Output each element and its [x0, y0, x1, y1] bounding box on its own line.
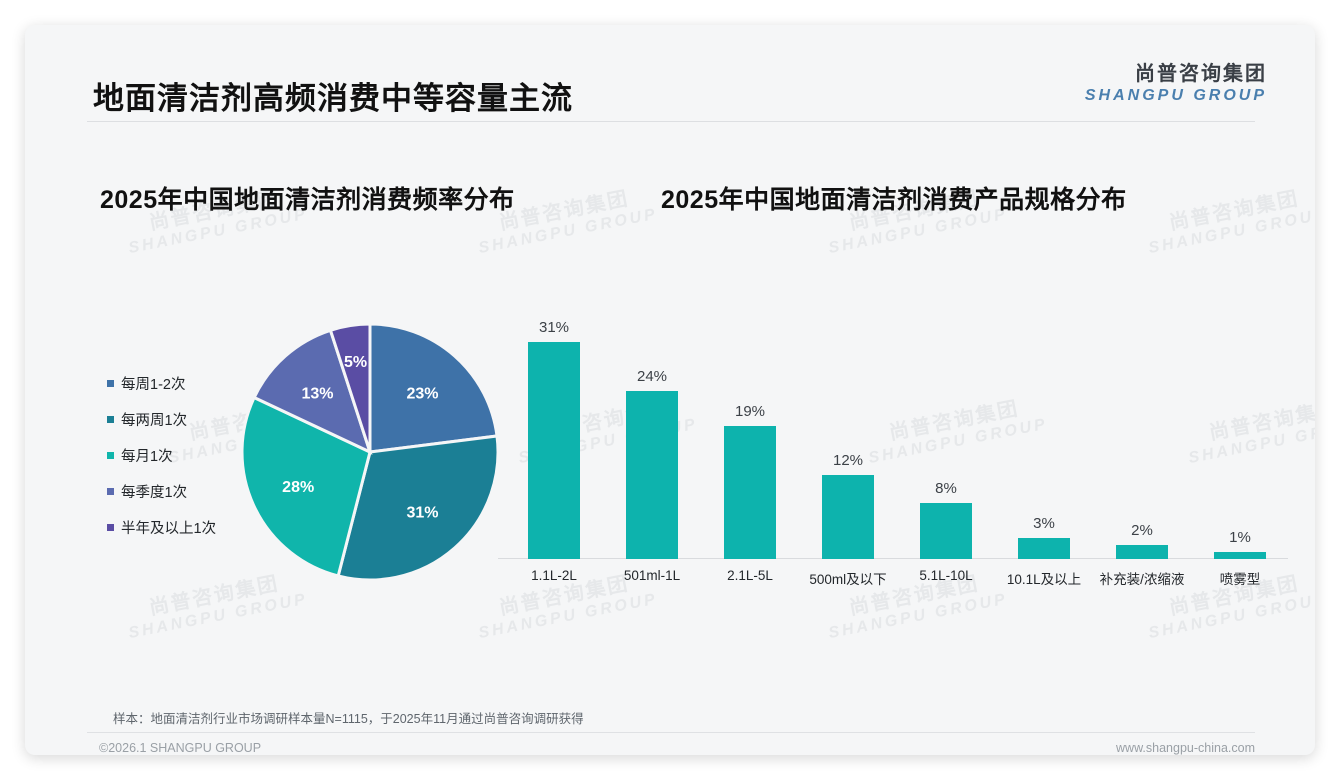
bar-category-label: 1.1L-2L	[531, 568, 577, 583]
watermark-text: 尚普咨询集团SHANGPU GROUP	[1143, 183, 1315, 258]
pie-slice-value: 31%	[406, 505, 438, 522]
bar-column[interactable]: 2%补充装/浓缩液	[1096, 545, 1188, 559]
bar-category-label: 喷雾型	[1220, 568, 1261, 588]
bar-value-label: 1%	[1194, 529, 1286, 546]
slide-card: 尚普咨询集团SHANGPU GROUP尚普咨询集团SHANGPU GROUP尚普…	[25, 25, 1315, 755]
left-chart-title: 2025年中国地面清洁剂消费频率分布	[100, 180, 515, 216]
website-url[interactable]: www.shangpu-china.com	[1116, 741, 1255, 755]
right-chart-title: 2025年中国地面清洁剂消费产品规格分布	[661, 180, 1127, 216]
bar-column[interactable]: 3%10.1L及以上	[998, 538, 1090, 559]
pie-legend: 每周1-2次每两周1次每月1次每季度1次半年及以上1次	[107, 365, 247, 545]
bar-category-label: 500ml及以下	[809, 568, 886, 588]
bar-chart-panel: 31%1.1L-2L24%501ml-1L19%2.1L-5L12%500ml及…	[490, 255, 1290, 595]
bar-value-label: 19%	[704, 403, 796, 420]
bar-value-label: 3%	[998, 515, 1090, 532]
pie-slice-value: 28%	[282, 479, 314, 496]
bar-column[interactable]: 12%500ml及以下	[802, 475, 894, 559]
bar-category-label: 补充装/浓缩液	[1100, 568, 1185, 588]
pie-legend-item[interactable]: 每两周1次	[107, 401, 247, 437]
logo-english-text: SHANGPU GROUP	[1085, 86, 1267, 106]
pie-slice-value: 13%	[302, 385, 334, 402]
bar-category-label: 2.1L-5L	[727, 568, 773, 583]
legend-swatch-icon	[107, 452, 114, 459]
legend-swatch-icon	[107, 524, 114, 531]
bar-column[interactable]: 31%1.1L-2L	[508, 342, 600, 559]
bar-rect[interactable]	[1018, 538, 1070, 559]
pie-legend-label: 每周1-2次	[121, 373, 185, 394]
header-divider	[87, 121, 1255, 122]
bar-column[interactable]: 24%501ml-1L	[606, 391, 698, 559]
pie-legend-item[interactable]: 每月1次	[107, 437, 247, 473]
pie-legend-item[interactable]: 每季度1次	[107, 473, 247, 509]
bar-column[interactable]: 1%喷雾型	[1194, 552, 1286, 559]
bar-category-label: 10.1L及以上	[1007, 568, 1081, 588]
bar-rect[interactable]	[920, 503, 972, 559]
pie-legend-label: 半年及以上1次	[121, 517, 216, 538]
pie-legend-label: 每季度1次	[121, 481, 187, 502]
logo-chinese-text: 尚普咨询集团	[1085, 62, 1267, 86]
pie-legend-item[interactable]: 每周1-2次	[107, 365, 247, 401]
bar-value-label: 31%	[508, 319, 600, 336]
pie-legend-label: 每月1次	[121, 445, 173, 466]
footer-divider	[87, 732, 1255, 733]
pie-chart: 23%31%28%13%5%	[230, 307, 510, 597]
bar-column[interactable]: 19%2.1L-5L	[704, 426, 796, 559]
pie-legend-label: 每两周1次	[121, 409, 187, 430]
bar-rect[interactable]	[822, 475, 874, 559]
copyright-text: ©2026.1 SHANGPU GROUP	[99, 741, 261, 755]
legend-swatch-icon	[107, 380, 114, 387]
bar-value-label: 24%	[606, 368, 698, 385]
sample-footnote: 样本：地面清洁剂行业市场调研样本量N=1115，于2025年11月通过尚普咨询调…	[113, 708, 584, 727]
bar-category-label: 501ml-1L	[624, 568, 680, 583]
bar-value-label: 12%	[802, 452, 894, 469]
pie-slice-value: 23%	[406, 385, 438, 402]
bar-rect[interactable]	[1116, 545, 1168, 559]
bar-rect[interactable]	[724, 426, 776, 559]
page-title: 地面清洁剂高频消费中等容量主流	[93, 73, 573, 118]
pie-legend-item[interactable]: 半年及以上1次	[107, 509, 247, 545]
bar-value-label: 8%	[900, 480, 992, 497]
bar-category-label: 5.1L-10L	[919, 568, 972, 583]
bar-value-label: 2%	[1096, 522, 1188, 539]
legend-swatch-icon	[107, 416, 114, 423]
pie-slice-value: 5%	[344, 354, 367, 371]
slide-header: 地面清洁剂高频消费中等容量主流 尚普咨询集团 SHANGPU GROUP	[25, 25, 1315, 123]
bar-rect[interactable]	[626, 391, 678, 559]
legend-swatch-icon	[107, 488, 114, 495]
brand-logo: 尚普咨询集团 SHANGPU GROUP	[1085, 62, 1267, 106]
pie-chart-panel: 每周1-2次每两周1次每月1次每季度1次半年及以上1次 23%31%28%13%…	[85, 265, 525, 615]
bar-rect[interactable]	[1214, 552, 1266, 559]
bar-column[interactable]: 8%5.1L-10L	[900, 503, 992, 559]
bar-rect[interactable]	[528, 342, 580, 559]
